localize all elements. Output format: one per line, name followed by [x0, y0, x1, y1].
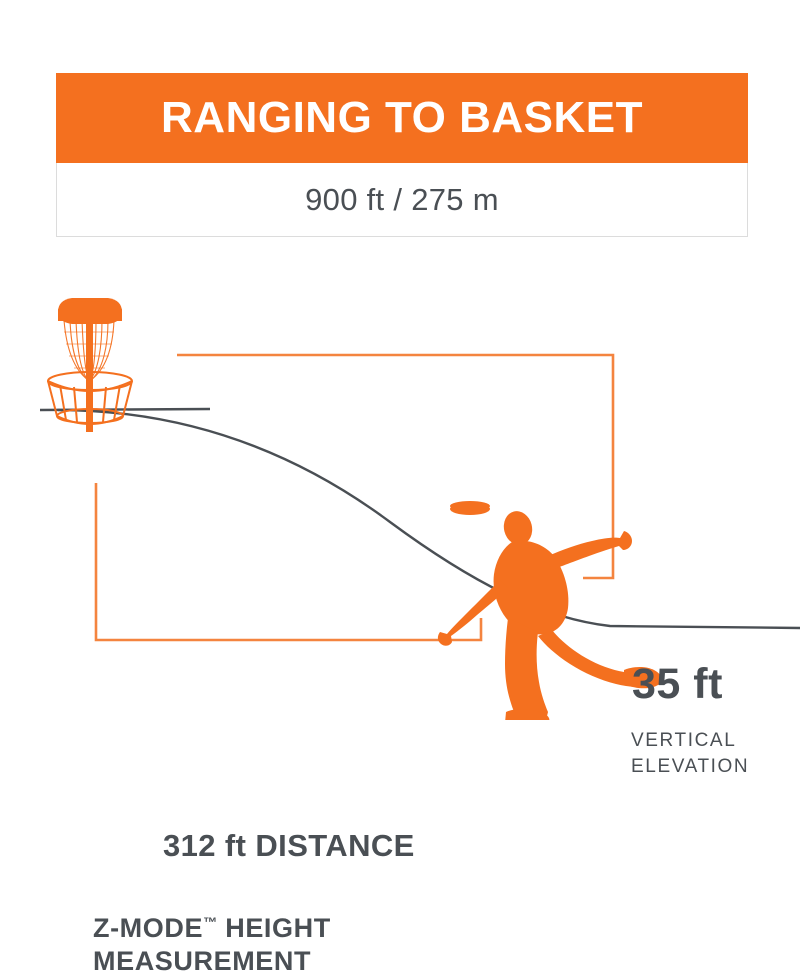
horizontal-distance-bracket [96, 483, 481, 640]
distance-label: 312 ft DISTANCE [163, 828, 415, 864]
disc-flight-path [58, 410, 800, 628]
header-card: RANGING TO BASKET 900 ft / 275 m [56, 73, 748, 237]
z-mode-line2: MEASUREMENT [93, 946, 311, 976]
illustration-svg [0, 250, 800, 720]
page-title: RANGING TO BASKET [161, 96, 643, 140]
z-mode-height-measurement-caption: Z-MODE™ HEIGHTMEASUREMENT [93, 912, 423, 978]
flying-disc [450, 501, 490, 515]
header-banner: RANGING TO BASKET [56, 73, 748, 163]
disc-golf-thrower-silhouette [438, 508, 662, 720]
infographic-root: RANGING TO BASKET 900 ft / 275 m [0, 0, 800, 800]
trademark-symbol: ™ [203, 914, 217, 930]
range-readout-row: 900 ft / 275 m [56, 163, 748, 237]
z-mode-name: Z-MODE [93, 913, 203, 943]
vertical-elevation-caption: VERTICAL ELEVATION [631, 728, 781, 779]
illustration-panel: 35 ft VERTICAL ELEVATION 312 ft DISTANCE… [0, 250, 800, 720]
disc-golf-basket [48, 298, 132, 432]
z-mode-line1-rest: HEIGHT [217, 913, 331, 943]
vertical-elevation-value: 35 ft [632, 660, 723, 709]
vertical-elevation-bracket [177, 355, 613, 578]
range-readout-value: 900 ft / 275 m [305, 182, 499, 218]
